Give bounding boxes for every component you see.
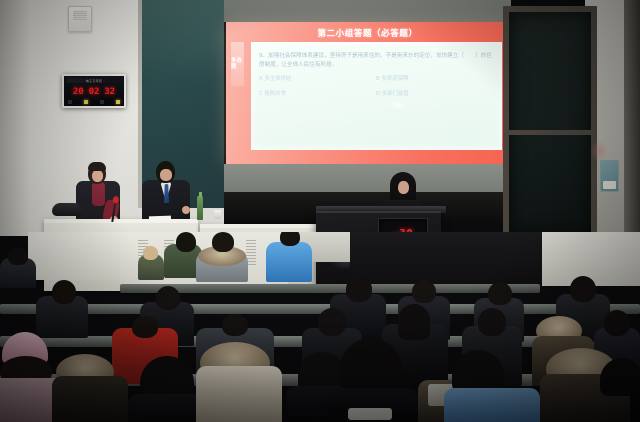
bag bbox=[52, 203, 82, 216]
clock-digit-hours: 20 bbox=[73, 87, 84, 97]
light-switch-panel[interactable] bbox=[600, 160, 619, 192]
head bbox=[222, 314, 248, 336]
slide-option-c: C 租购并举 bbox=[259, 89, 376, 97]
head bbox=[346, 276, 372, 302]
left-wall-shadow bbox=[0, 0, 30, 236]
face bbox=[398, 181, 409, 194]
cream-parka bbox=[196, 366, 282, 422]
slide-side-tab: 多选题 bbox=[231, 42, 244, 86]
chalkboard-divider bbox=[503, 130, 597, 135]
desk-row bbox=[120, 284, 540, 293]
light-blue-puffer bbox=[444, 388, 540, 422]
clock-indicator-lit bbox=[116, 100, 120, 104]
water-bottle bbox=[197, 196, 203, 220]
head bbox=[156, 286, 180, 310]
wall-clock-brand-label: 电子万年历 bbox=[86, 79, 103, 83]
burgundy-top bbox=[92, 182, 105, 206]
clock-indicator bbox=[100, 100, 104, 104]
head bbox=[318, 308, 346, 336]
hair bbox=[600, 358, 640, 396]
slide-option-a: A 多主体供给 bbox=[259, 74, 376, 82]
dark-chalkboard bbox=[503, 6, 597, 240]
clock-digit-seconds: 32 bbox=[104, 87, 115, 97]
slide-question-text: 9．加强社会保障体系建设，坚持房子是用来住的、不是用来炒的定位，加快建立（ ）的… bbox=[259, 52, 493, 70]
head bbox=[212, 232, 234, 252]
head bbox=[570, 276, 596, 302]
projection-screen: 第二小组答题（必答题） 多选题 9．加强社会保障体系建设，坚持房子是用来住的、不… bbox=[226, 22, 509, 164]
slide-options: A 多主体供给 B 多渠道保障 C 租购并举 D 多部门监管 bbox=[259, 74, 493, 97]
slide-title: 第二小组答题（必答题） bbox=[226, 27, 509, 39]
clock-indicator bbox=[68, 100, 72, 104]
face bbox=[160, 169, 172, 181]
head bbox=[412, 280, 436, 303]
slide-option-b: B 多渠道保障 bbox=[376, 74, 493, 82]
head bbox=[488, 282, 512, 305]
head bbox=[8, 248, 28, 265]
long-hair bbox=[340, 338, 402, 394]
projection-screen-frame: 第二小组答题（必答题） 多选题 9．加强社会保障体系建设，坚持房子是用来住的、不… bbox=[224, 0, 511, 224]
light-blue-puffer bbox=[266, 242, 312, 282]
audience-area bbox=[0, 232, 640, 422]
necktie bbox=[164, 184, 169, 203]
wall-clock: 电子万年历 20 02 32 bbox=[62, 74, 126, 108]
dark-back-area bbox=[350, 232, 542, 292]
slide-option-d: D 多部门监管 bbox=[376, 89, 493, 97]
paper-cup bbox=[214, 210, 221, 219]
wall-smudge bbox=[590, 140, 608, 162]
presentation-slide: 第二小组答题（必答题） 多选题 9．加强社会保障体系建设，坚持房子是用来住的、不… bbox=[226, 22, 509, 164]
face bbox=[92, 170, 103, 182]
head bbox=[478, 308, 506, 336]
hand bbox=[182, 206, 190, 214]
head bbox=[176, 232, 196, 252]
wall-speaker-icon bbox=[68, 6, 92, 32]
head bbox=[604, 310, 630, 336]
far-right-wall bbox=[624, 0, 640, 250]
fringe bbox=[88, 162, 106, 171]
paper-sheet bbox=[149, 216, 171, 223]
screen-glare bbox=[390, 100, 406, 110]
parka bbox=[52, 376, 128, 422]
head bbox=[52, 280, 76, 304]
wall-below-screen bbox=[224, 164, 511, 192]
cabinet bbox=[28, 232, 120, 280]
head bbox=[398, 304, 430, 340]
clock-indicator-lit bbox=[84, 100, 88, 104]
screenshot-root: 电子万年历 20 02 32 第二小组答题（必答题） 多选题 9．加强社会保障体… bbox=[0, 0, 640, 422]
wall-clock-brand: 电子万年历 bbox=[67, 78, 121, 83]
wall-above-screen bbox=[224, 0, 511, 22]
head bbox=[280, 232, 300, 246]
clock-digit-minutes: 02 bbox=[89, 87, 100, 97]
wall-clock-indicators bbox=[68, 100, 120, 104]
wall-clock-digits: 20 02 32 bbox=[68, 85, 120, 99]
head-blonde bbox=[143, 246, 158, 260]
white-scarf bbox=[348, 408, 392, 420]
head bbox=[132, 316, 158, 338]
